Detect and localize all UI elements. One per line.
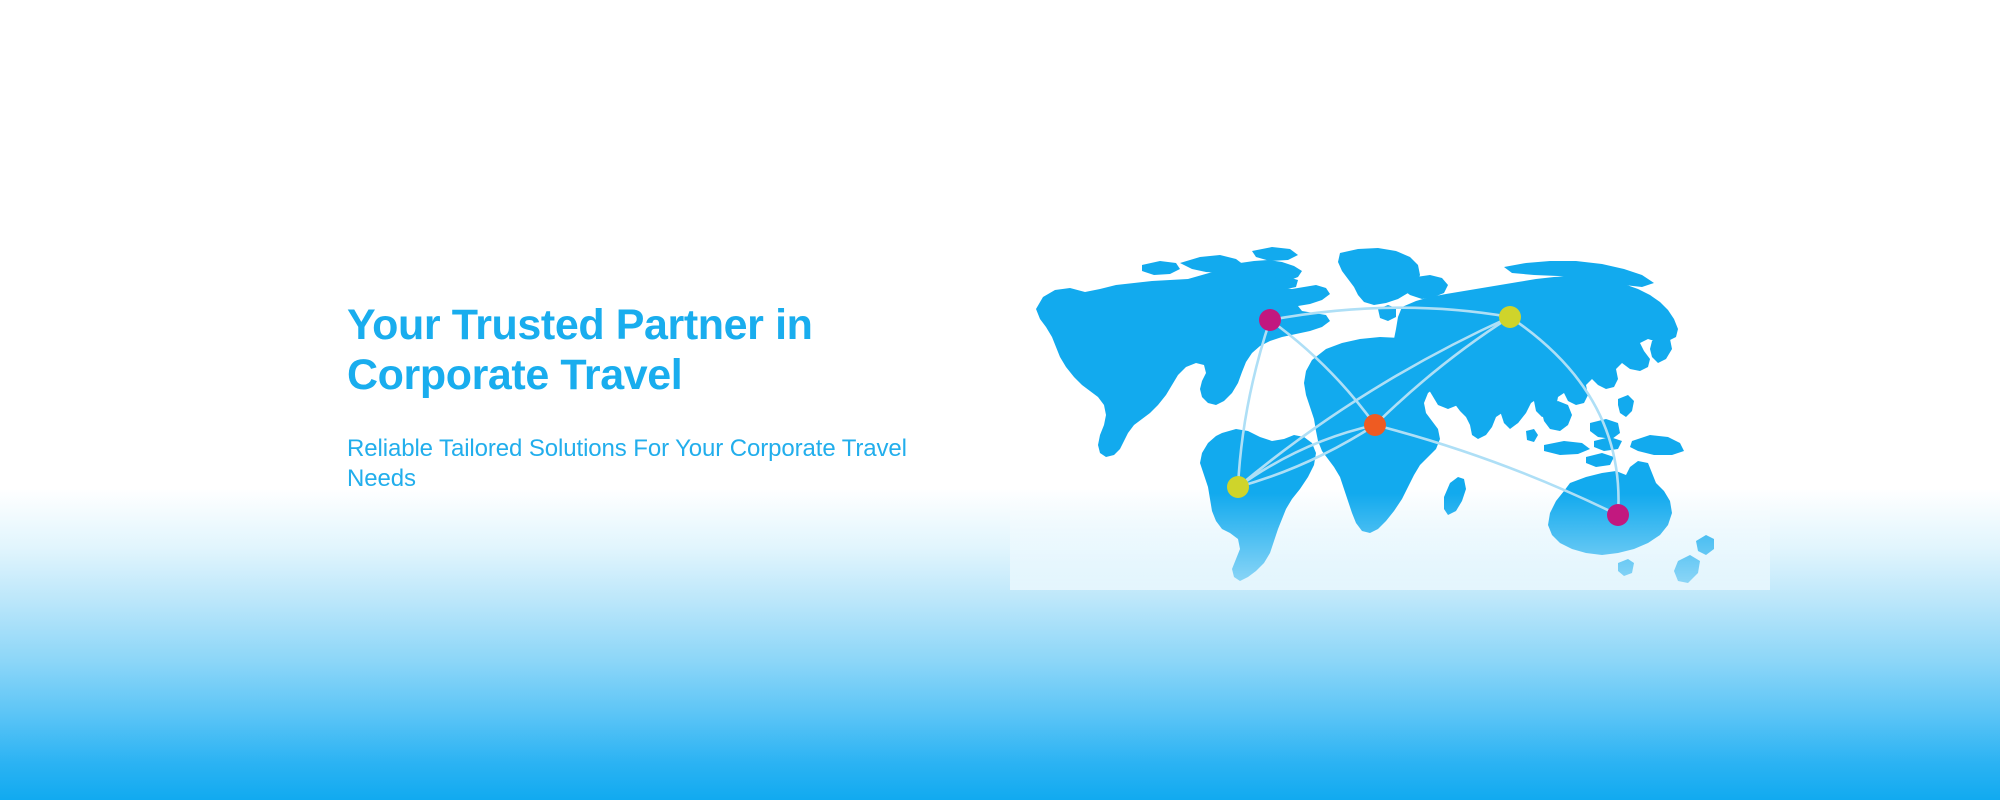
map-marker-africa[interactable] (1364, 414, 1386, 436)
world-map-svg (1030, 245, 1730, 590)
hero-copy-block: Your Trusted Partner in Corporate Travel… (347, 300, 967, 494)
map-fade-overlay (1010, 245, 1770, 590)
page-title: Your Trusted Partner in Corporate Travel (347, 300, 967, 400)
map-marker-asia[interactable] (1499, 306, 1521, 328)
map-marker-north-america[interactable] (1259, 309, 1281, 331)
map-marker-australia[interactable] (1607, 504, 1629, 526)
hero-subtitle: Reliable Tailored Solutions For Your Cor… (347, 400, 967, 494)
hero-banner: Your Trusted Partner in Corporate Travel… (0, 0, 2000, 800)
world-map (1030, 245, 1730, 590)
map-marker-south-america[interactable] (1227, 476, 1249, 498)
